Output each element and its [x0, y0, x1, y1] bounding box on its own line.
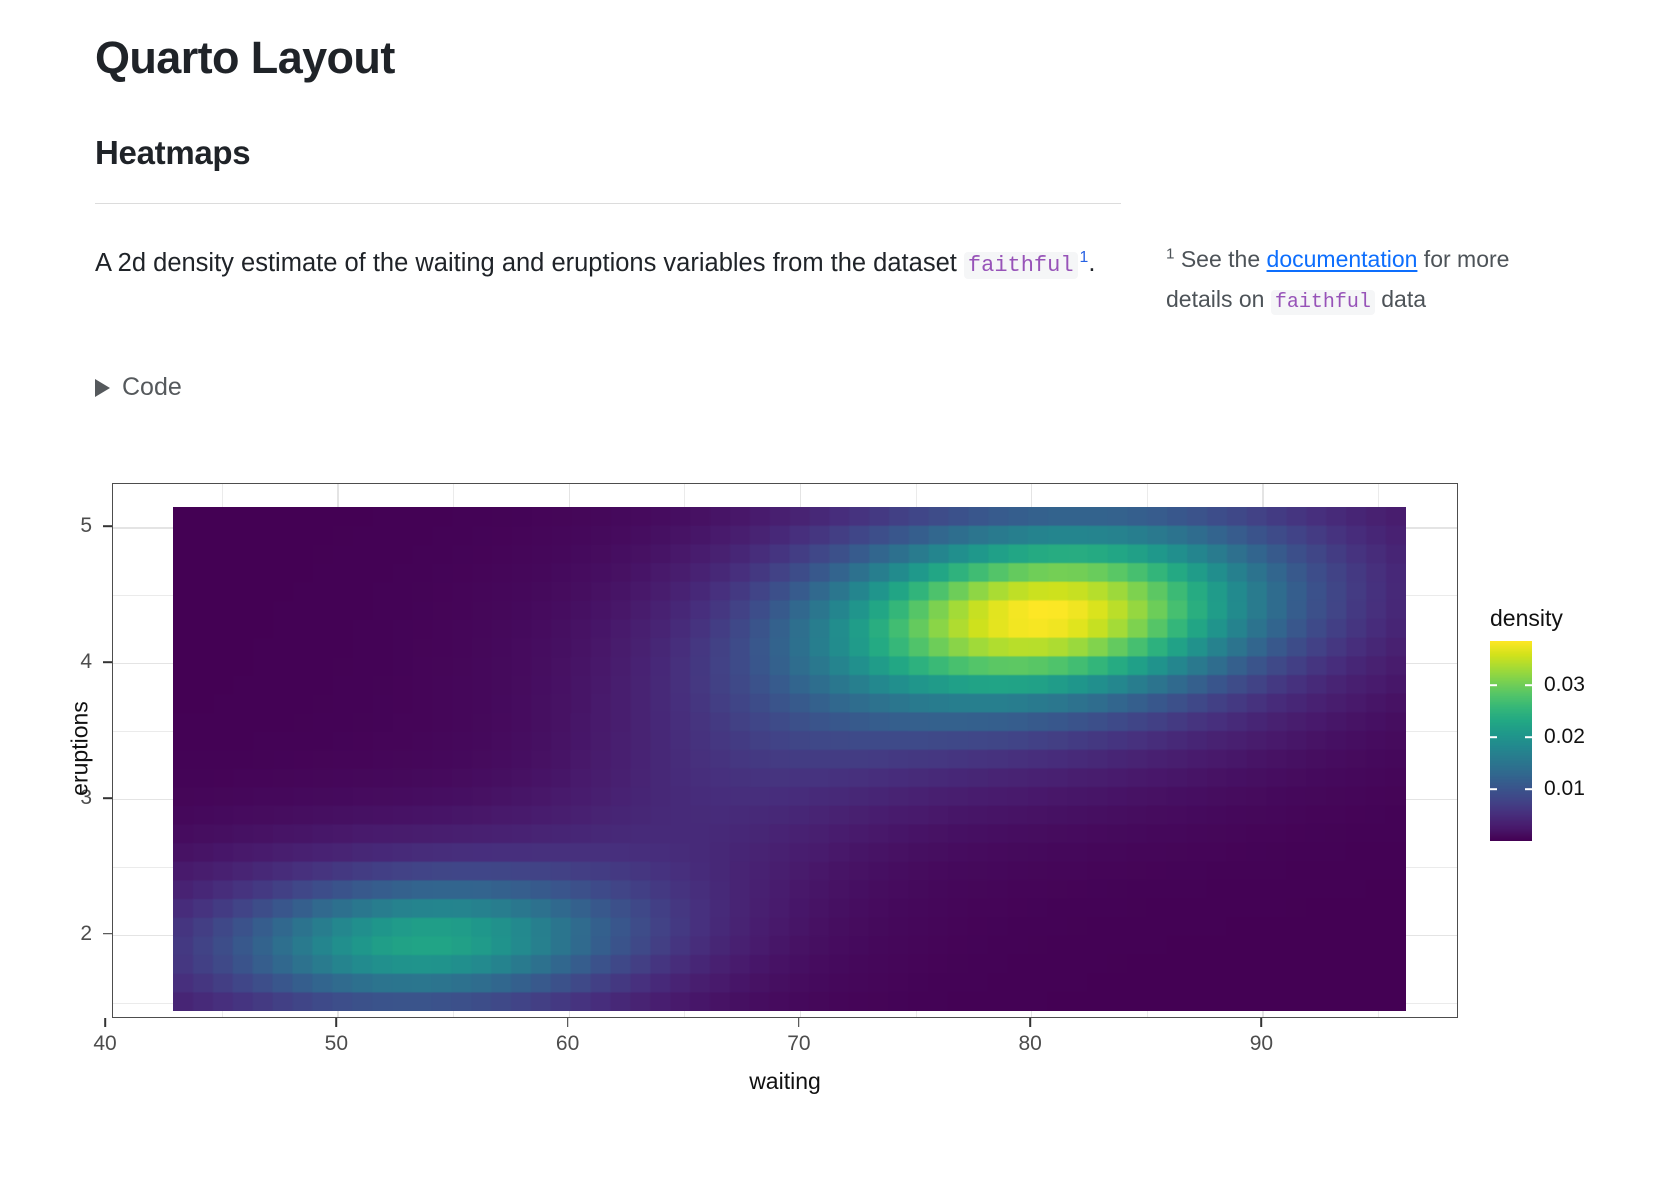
document-page: Quarto Layout Heatmaps A 2d density esti…	[0, 0, 1660, 1200]
x-tick-label: 60	[556, 1032, 579, 1056]
heading-divider	[95, 203, 1121, 204]
x-tick-label: 90	[1250, 1032, 1273, 1056]
legend-title: density	[1490, 605, 1640, 632]
paragraph-text-before: A 2d density estimate of the waiting and…	[95, 249, 964, 277]
y-tick-mark	[103, 526, 112, 528]
legend-tick-mark	[1490, 684, 1497, 686]
legend-tick-label: 0.01	[1544, 777, 1585, 801]
margin-note: 1 See the documentation for more details…	[1166, 240, 1522, 320]
plot-panel	[112, 483, 1458, 1018]
x-tick-mark	[1261, 1018, 1263, 1027]
x-tick-mark	[567, 1018, 569, 1027]
section-heading: Heatmaps	[95, 133, 250, 173]
x-tick-mark	[336, 1018, 338, 1027]
footnote-reference[interactable]: 1	[1078, 249, 1089, 266]
legend-tick-mark	[1525, 684, 1532, 686]
x-tick-label: 50	[325, 1032, 348, 1056]
heatmap-figure: 2345 405060708090 waiting eruptions dens…	[0, 440, 1660, 1080]
legend-tick-label: 0.02	[1544, 725, 1585, 749]
margin-note-text-end: data	[1375, 286, 1426, 312]
legend-tick-mark	[1490, 736, 1497, 738]
x-tick-mark	[1029, 1018, 1031, 1027]
legend-colorbar	[1490, 641, 1532, 841]
legend-tick-mark	[1490, 788, 1497, 790]
inline-code-faithful: faithful	[964, 252, 1078, 279]
y-tick-mark	[103, 933, 112, 935]
legend-colorbar-wrap: 0.010.020.03	[1490, 641, 1532, 841]
margin-inline-code-faithful: faithful	[1271, 290, 1375, 315]
x-tick-mark	[798, 1018, 800, 1027]
code-disclosure-toggle[interactable]: Code	[95, 373, 182, 402]
page-title: Quarto Layout	[95, 32, 395, 84]
y-tick-label: 5	[52, 514, 92, 538]
legend-tick-label: 0.03	[1544, 673, 1585, 697]
y-tick-mark	[103, 797, 112, 799]
x-tick-mark	[104, 1018, 106, 1027]
y-tick-mark	[103, 661, 112, 663]
legend-tick-mark	[1525, 788, 1532, 790]
x-tick-label: 80	[1018, 1032, 1041, 1056]
y-axis-title: eruptions	[67, 688, 94, 808]
documentation-link[interactable]: documentation	[1267, 246, 1418, 272]
x-tick-label: 40	[93, 1032, 116, 1056]
x-axis-title: waiting	[112, 1068, 1458, 1095]
density-raster	[173, 507, 1406, 1011]
body-paragraph: A 2d density estimate of the waiting and…	[95, 240, 1105, 286]
legend: density 0.010.020.03	[1490, 605, 1640, 841]
code-toggle-label: Code	[122, 373, 182, 402]
x-tick-label: 70	[787, 1032, 810, 1056]
paragraph-text-after: .	[1088, 249, 1095, 277]
y-tick-label: 2	[52, 922, 92, 946]
legend-tick-mark	[1525, 736, 1532, 738]
margin-note-text-before: See the	[1174, 246, 1266, 272]
triangle-right-icon	[95, 379, 110, 397]
y-tick-label: 4	[52, 650, 92, 674]
